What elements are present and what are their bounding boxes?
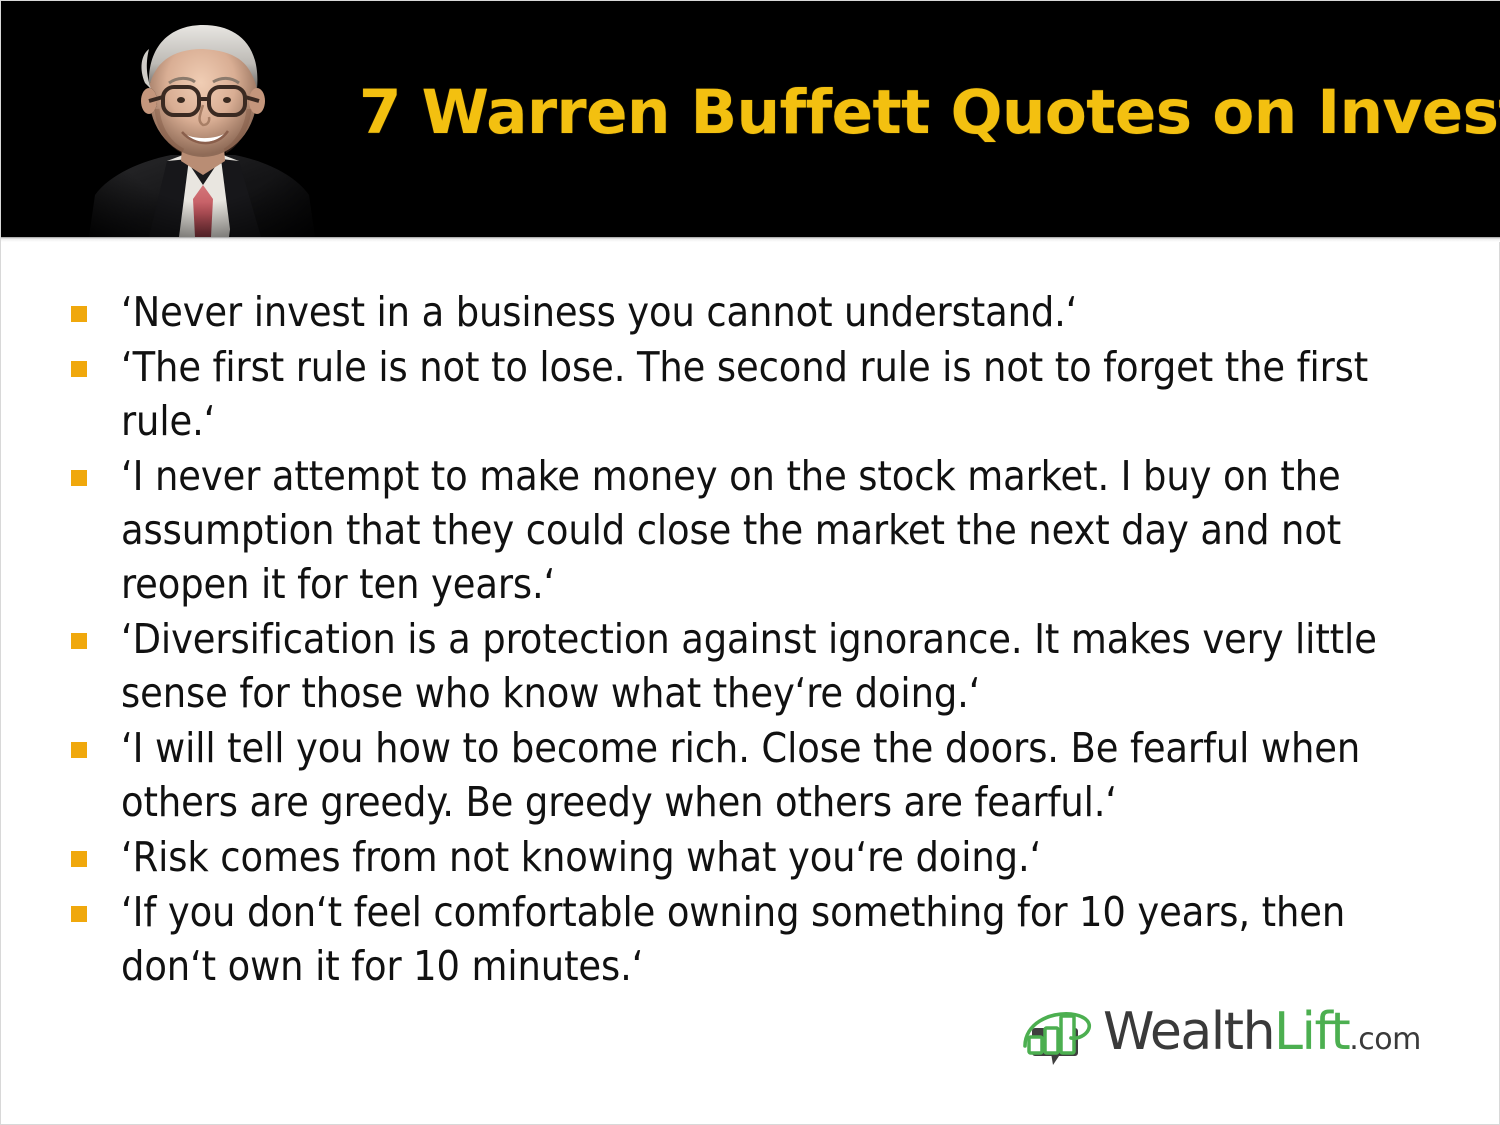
- bar-chart-speech-bubble-icon: [1019, 1006, 1097, 1066]
- quote-text: ‘Never invest in a business you cannot u…: [121, 288, 1077, 336]
- page-title: 7 Warren Buffett Quotes on Investing: [359, 77, 1500, 149]
- list-item: ‘I will tell you how to become rich. Clo…: [1, 721, 1500, 829]
- logo-lift-text: Lift: [1274, 1002, 1349, 1062]
- quote-text: ‘I will tell you how to become rich. Clo…: [121, 724, 1360, 826]
- quote-text: ‘Risk comes from not knowing what you‘re…: [121, 833, 1041, 881]
- list-item: ‘The first rule is not to lose. The seco…: [1, 340, 1500, 448]
- header-divider: [1, 237, 1500, 242]
- bullet-square-icon: [71, 306, 87, 322]
- bullet-square-icon: [71, 906, 87, 922]
- list-item: ‘Never invest in a business you cannot u…: [1, 285, 1500, 339]
- warren-buffett-portrait: [79, 9, 327, 237]
- header-banner: 7 Warren Buffett Quotes on Investing: [1, 1, 1500, 237]
- quote-text: ‘If you don‘t feel comfortable owning so…: [121, 888, 1345, 990]
- bullet-square-icon: [71, 361, 87, 377]
- logo-wealth-text: Wealth: [1103, 1002, 1274, 1062]
- logo-wordmark: WealthLift.com: [1103, 1004, 1421, 1068]
- list-item: ‘Risk comes from not knowing what you‘re…: [1, 830, 1500, 884]
- logo-com-text: .com: [1349, 1022, 1421, 1057]
- quote-text: ‘I never attempt to make money on the st…: [121, 452, 1341, 608]
- bullet-square-icon: [71, 851, 87, 867]
- list-item: ‘If you don‘t feel comfortable owning so…: [1, 885, 1500, 993]
- quote-list: ‘Never invest in a business you cannot u…: [1, 285, 1500, 994]
- list-item: ‘I never attempt to make money on the st…: [1, 449, 1500, 611]
- wealthlift-logo[interactable]: WealthLift.com: [1019, 1003, 1451, 1069]
- bullet-square-icon: [71, 633, 87, 649]
- quote-text: ‘Diversification is a protection against…: [121, 615, 1377, 717]
- bullet-square-icon: [71, 742, 87, 758]
- quote-text: ‘The first rule is not to lose. The seco…: [121, 343, 1368, 445]
- slide-canvas: 7 Warren Buffett Quotes on Investing ‘Ne…: [0, 0, 1500, 1125]
- bullet-square-icon: [71, 470, 87, 486]
- list-item: ‘Diversification is a protection against…: [1, 612, 1500, 720]
